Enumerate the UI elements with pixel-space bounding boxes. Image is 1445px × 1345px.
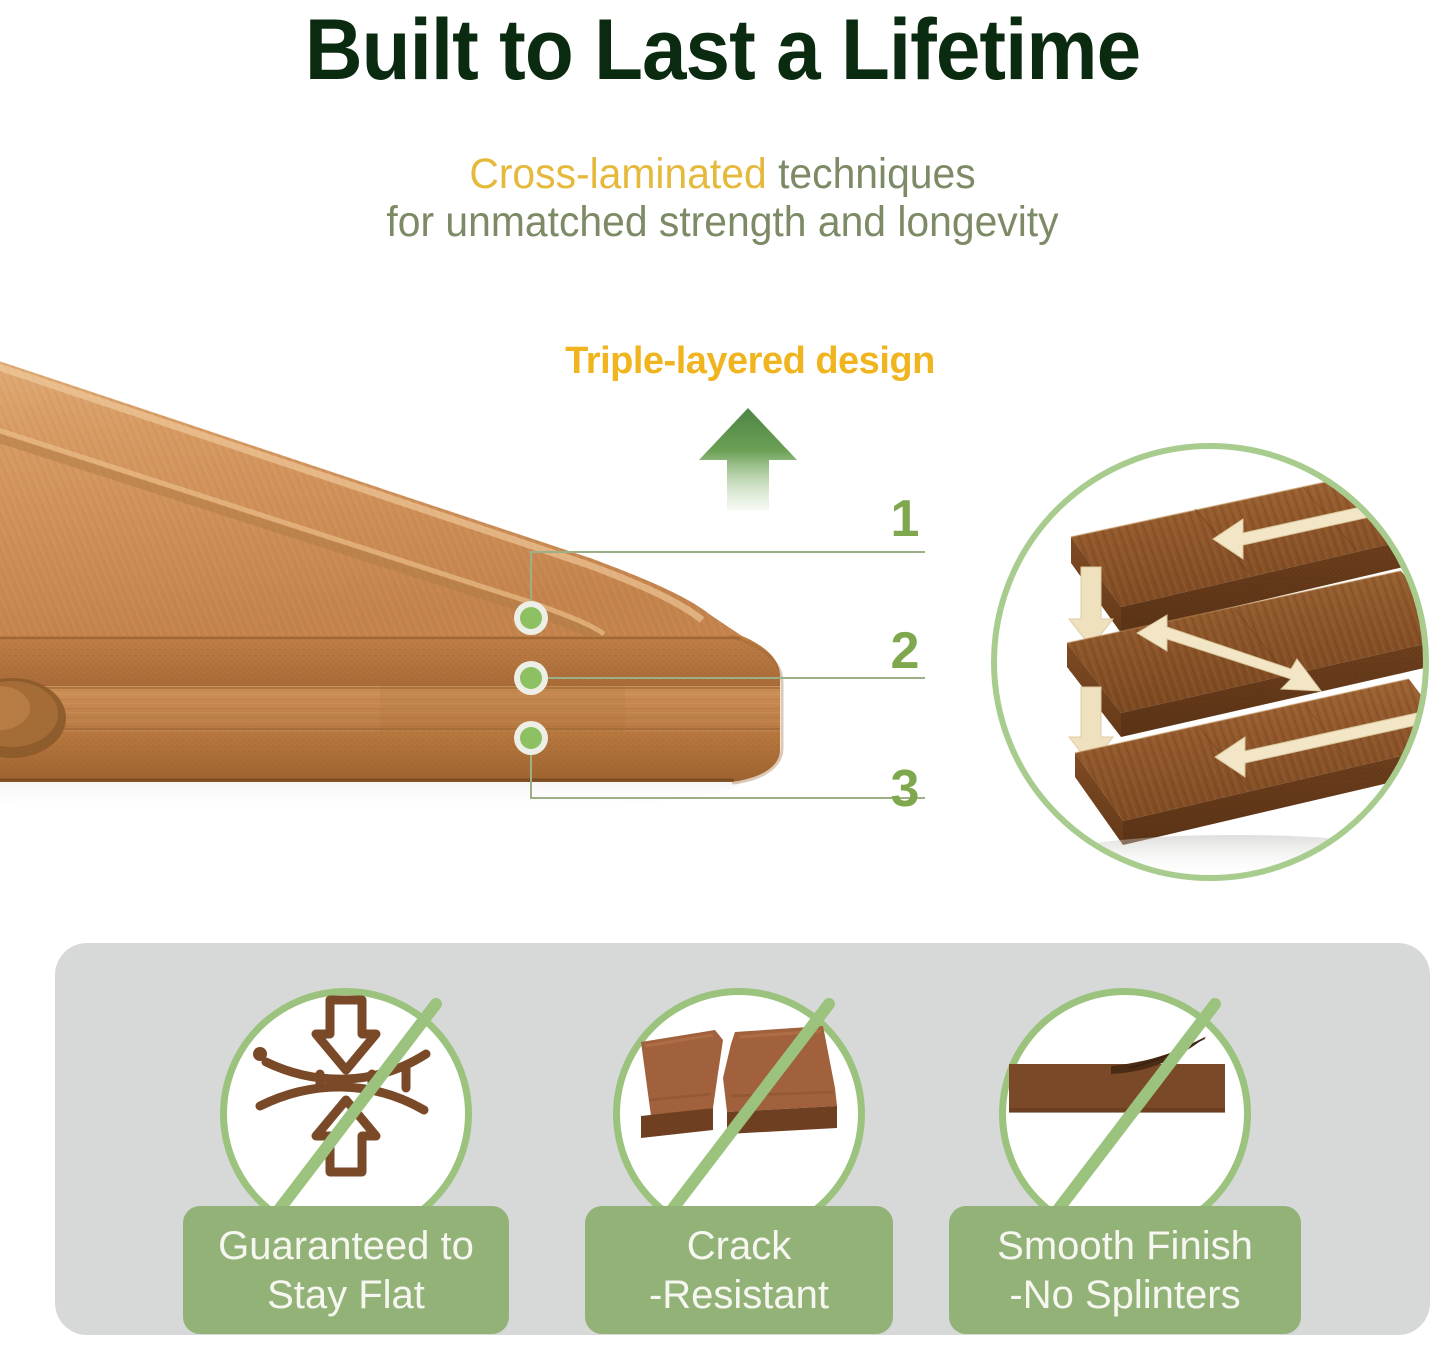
feature-badge-smooth-finish: Smooth Finish -No Splinters <box>925 988 1325 1318</box>
subtitle-line-2: for unmatched strength and longevity <box>36 196 1409 248</box>
subtitle-highlight: Cross-laminated <box>469 150 766 198</box>
feature-label-smooth-finish: Smooth Finish -No Splinters <box>949 1206 1301 1334</box>
subtitle-rest: techniques <box>767 150 976 198</box>
infographic-canvas: Built to Last a Lifetime Cross-laminated… <box>0 0 1445 1345</box>
feature-label-stay-flat: Guaranteed to Stay Flat <box>183 1206 509 1334</box>
triple-layered-design-label: Triple-layered design <box>470 338 1030 384</box>
callout-number-2: 2 <box>875 625 935 677</box>
feature-badge-crack-resistant: Crack -Resistant <box>539 988 939 1318</box>
feature-label-crack-resistant: Crack -Resistant <box>585 1206 893 1334</box>
subtitle-line-1: Cross-laminated techniques <box>36 148 1409 200</box>
feature-badge-stay-flat: Guaranteed to Stay Flat <box>146 988 546 1318</box>
page-title: Built to Last a Lifetime <box>51 2 1395 98</box>
callout-number-1: 1 <box>875 493 935 545</box>
callout-number-3: 3 <box>875 763 935 815</box>
cross-lamination-diagram <box>985 437 1435 887</box>
